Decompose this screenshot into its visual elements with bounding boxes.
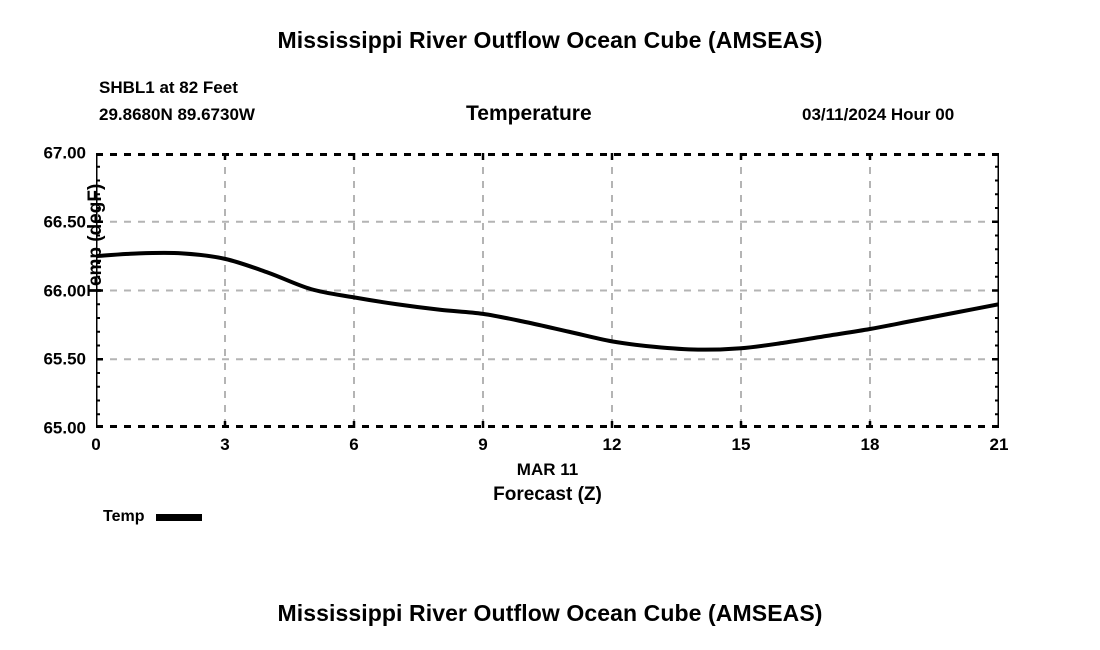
- x-tick-label: 15: [732, 436, 751, 453]
- x-tick-label: 6: [349, 436, 358, 453]
- legend-item-label: Temp: [103, 508, 144, 526]
- variable-title: Temperature: [466, 102, 592, 126]
- y-tick-label: 66.50: [0, 213, 86, 230]
- x-tick-label: 21: [990, 436, 1009, 453]
- x-tick-label: 12: [603, 436, 622, 453]
- grid-lines: [96, 153, 999, 428]
- y-tick-label: 65.50: [0, 351, 86, 368]
- y-tick-label: 65.00: [0, 420, 86, 437]
- x-tick-label: 0: [91, 436, 100, 453]
- legend-line-swatch: [156, 514, 202, 521]
- x-axis-day-label: MAR 11: [96, 460, 999, 480]
- station-label: SHBL1 at 82 Feet: [99, 78, 238, 98]
- y-tick-label: 66.00: [0, 282, 86, 299]
- y-tick-label: 67.00: [0, 145, 86, 162]
- temperature-line-chart: [96, 153, 999, 428]
- x-tick-label: 9: [478, 436, 487, 453]
- series-line-temp: [96, 253, 999, 350]
- chart-legend: Temp: [103, 508, 202, 526]
- chart-plot-area: Temp (degF) 65.0065.5066.0066.5067.00 03…: [96, 153, 999, 428]
- x-axis-label: Forecast (Z): [96, 484, 999, 506]
- y-axis-label: Temp (degF): [85, 178, 107, 302]
- forecast-datetime-label: 03/11/2024 Hour 00: [802, 105, 954, 125]
- x-tick-label: 18: [861, 436, 880, 453]
- page-title-bottom: Mississippi River Outflow Ocean Cube (AM…: [0, 600, 1100, 627]
- page-title-top: Mississippi River Outflow Ocean Cube (AM…: [0, 27, 1100, 54]
- coordinates-label: 29.8680N 89.6730W: [99, 105, 255, 125]
- data-series-layer: [96, 253, 999, 350]
- x-tick-label: 3: [220, 436, 229, 453]
